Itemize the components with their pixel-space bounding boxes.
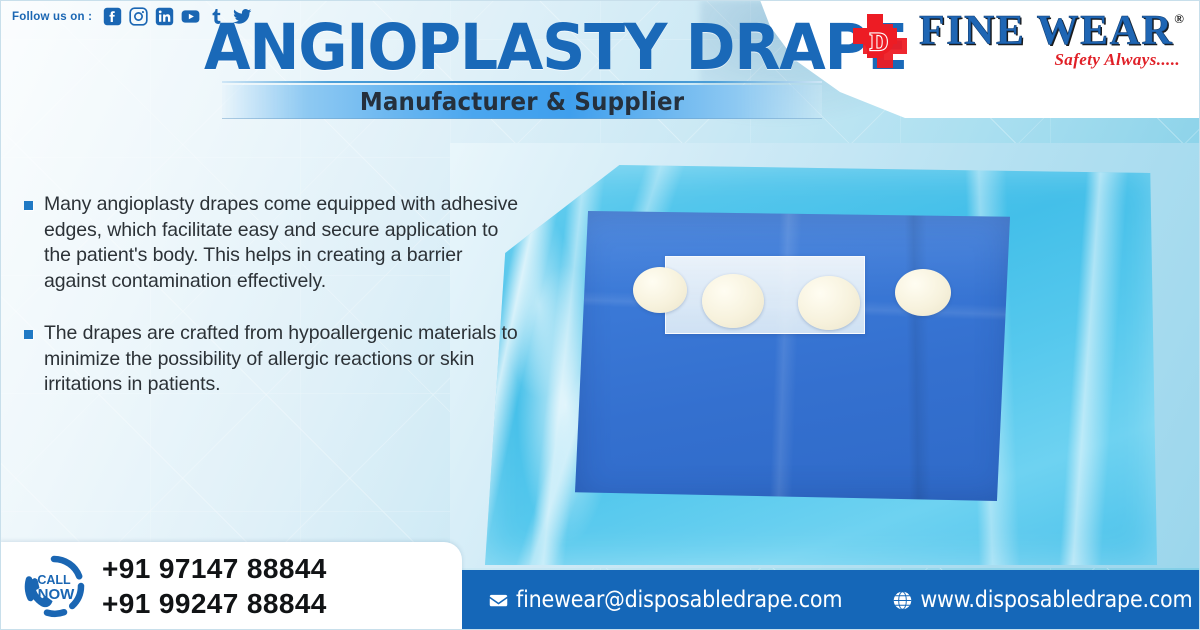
subtitle-text: Manufacturer & Supplier	[360, 87, 685, 116]
bullet-marker-icon	[24, 201, 33, 210]
phone-number[interactable]: +91 97147 88844	[102, 552, 327, 586]
subtitle-bar: Manufacturer & Supplier	[222, 85, 822, 119]
call-badge-line2: NOW	[38, 586, 76, 603]
list-item: The drapes are crafted from hypoallergen…	[24, 321, 519, 398]
call-badge-line1: CALL	[37, 573, 71, 587]
drape-fold-shading	[575, 211, 1010, 501]
page-title: ANGIOPLASTY DRAPE	[204, 18, 840, 78]
logo-brand-name: FINE WEAR	[919, 10, 1173, 52]
envelope-icon	[488, 590, 509, 611]
email-address: finewear@disposabledrape.com	[516, 587, 842, 613]
phone-number-list: +91 97147 88844 +91 99247 88844	[102, 552, 327, 620]
feature-list: Many angioplasty drapes come equipped wi…	[24, 192, 519, 424]
globe-icon	[892, 590, 913, 611]
fenestration-hole	[895, 269, 951, 316]
registered-trademark-symbol: ®	[1174, 11, 1184, 27]
bullet-marker-icon	[24, 330, 33, 339]
call-now-icon[interactable]: CALL NOW	[22, 554, 86, 618]
brand-logo: D FINE WEAR ® Safety Always.....	[847, 8, 1184, 72]
title-block: ANGIOPLASTY DRAPE Manufacturer & Supplie…	[222, 18, 822, 119]
medical-cross-logo-icon: D	[847, 8, 911, 72]
follow-us-label: Follow us on :	[12, 11, 92, 23]
youtube-icon[interactable]	[181, 7, 200, 26]
list-item: Many angioplasty drapes come equipped wi…	[24, 192, 519, 295]
drape-inner-panel	[575, 211, 1010, 501]
website-contact[interactable]: www.disposabledrape.com	[892, 587, 1192, 613]
promotional-banner: Follow us on : ANGIOPLASTY DRAPE Manufac…	[0, 0, 1200, 630]
email-contact[interactable]: finewear@disposabledrape.com	[488, 587, 842, 613]
product-photo	[450, 143, 1200, 568]
phone-contact-panel: CALL NOW +91 97147 88844 +91 99247 88844	[0, 542, 462, 630]
fenestration-hole	[798, 276, 860, 330]
fenestration-hole	[633, 267, 687, 313]
logo-monogram-d: D	[870, 29, 888, 56]
fenestration-hole	[702, 274, 764, 328]
feature-text: The drapes are crafted from hypoallergen…	[44, 321, 519, 398]
facebook-icon[interactable]	[103, 7, 122, 26]
phone-number[interactable]: +91 99247 88844	[102, 587, 327, 621]
feature-text: Many angioplasty drapes come equipped wi…	[44, 192, 519, 295]
linkedin-icon[interactable]	[155, 7, 174, 26]
instagram-icon[interactable]	[129, 7, 148, 26]
logo-tagline: Safety Always.....	[1054, 50, 1180, 70]
website-url: www.disposabledrape.com	[920, 587, 1192, 613]
web-contact-bar: finewear@disposabledrape.com www.disposa…	[462, 570, 1200, 630]
